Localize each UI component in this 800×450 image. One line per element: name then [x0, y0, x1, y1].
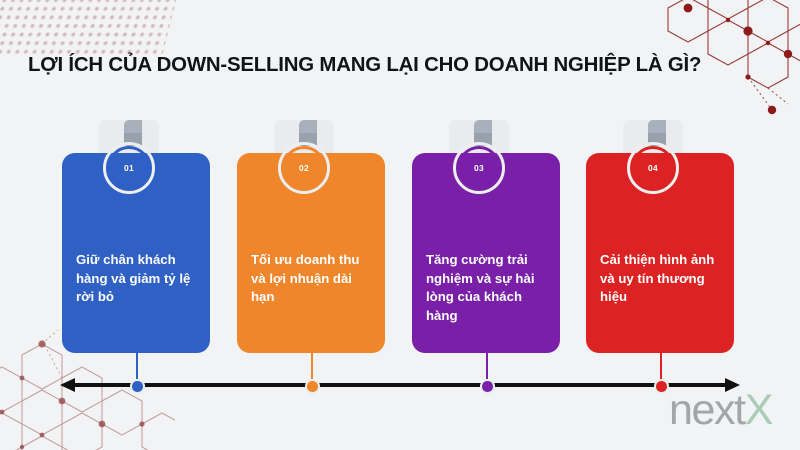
logo-text-primary: next	[669, 386, 745, 434]
cards-row: Giữ chân khách hàng và giảm tỷ lệ rời bỏ…	[0, 118, 800, 368]
axis-line	[74, 383, 726, 386]
card-04[interactable]: Cải thiện hình ảnh và uy tín thương hiệu…	[586, 118, 734, 368]
infographic-canvas: LỢI ÍCH CỦA DOWN-SELLING MANG LẠI CHO DO…	[0, 0, 800, 450]
timeline-node-03[interactable]	[480, 379, 495, 394]
arrow-left-icon	[60, 378, 75, 392]
timeline-node-02[interactable]	[305, 379, 320, 394]
badge-disc: 04	[638, 153, 668, 183]
badge-number: 02	[299, 163, 309, 173]
timeline-axis	[60, 378, 740, 392]
card-text: Giữ chân khách hàng và giảm tỷ lệ rời bỏ	[76, 251, 200, 307]
badge-number: 04	[648, 163, 658, 173]
page-title: LỢI ÍCH CỦA DOWN-SELLING MANG LẠI CHO DO…	[28, 54, 772, 77]
card-01[interactable]: Giữ chân khách hàng và giảm tỷ lệ rời bỏ…	[62, 118, 210, 368]
card-number-badge: 02	[282, 146, 326, 190]
badge-disc: 03	[464, 153, 494, 183]
badge-number: 03	[474, 163, 484, 173]
card-number-badge: 01	[107, 146, 151, 190]
brand-logo: nextX	[669, 389, 772, 432]
card-02[interactable]: Tối ưu doanh thu và lợi nhuận dài hạn 02	[237, 118, 385, 368]
card-number-badge: 03	[457, 146, 501, 190]
halftone-dot-grid-icon	[0, 0, 177, 54]
logo-text-accent: X	[745, 386, 772, 434]
badge-number: 01	[124, 163, 134, 173]
timeline-node-04[interactable]	[654, 379, 669, 394]
badge-disc: 01	[114, 153, 144, 183]
card-text: Tăng cường trải nghiệm và sự hài lòng củ…	[426, 251, 550, 326]
card-text: Cải thiện hình ảnh và uy tín thương hiệu	[600, 251, 724, 307]
timeline-node-01[interactable]	[130, 379, 145, 394]
badge-disc: 02	[289, 153, 319, 183]
card-number-badge: 04	[631, 146, 675, 190]
card-text: Tối ưu doanh thu và lợi nhuận dài hạn	[251, 251, 375, 307]
card-03[interactable]: Tăng cường trải nghiệm và sự hài lòng củ…	[412, 118, 560, 368]
